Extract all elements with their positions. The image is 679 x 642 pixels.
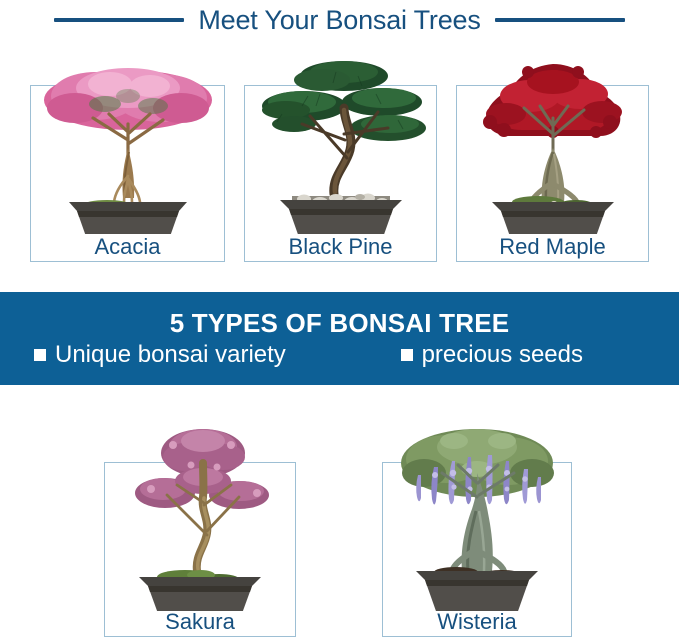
red-maple-bonsai-image [460,56,646,234]
wisteria-bonsai-image [384,417,570,611]
header-rule-right-icon [495,18,625,22]
product-card-label: Black Pine [245,235,436,258]
banner-bullet-item-1: Unique bonsai variety [34,342,286,368]
product-card-acacia[interactable]: Acacia [30,85,225,262]
acacia-bonsai-image [35,56,221,234]
banner-bullet-list: Unique bonsai variety precious seeds [0,342,679,368]
product-card-black-pine[interactable]: Black Pine [244,85,437,262]
banner-bullet-text: Unique bonsai variety [55,342,286,368]
page-header: Meet Your Bonsai Trees [0,0,679,40]
banner-title: 5 TYPES OF BONSAI TREE [170,309,510,338]
product-card-red-maple[interactable]: Red Maple [456,85,649,262]
banner-bullet-item-2: precious seeds [401,342,583,368]
page-title: Meet Your Bonsai Trees [198,7,480,34]
product-card-sakura[interactable]: Sakura [104,462,296,637]
product-card-label: Acacia [31,235,224,258]
promo-banner: 5 TYPES OF BONSAI TREE Unique bonsai var… [0,292,679,385]
product-card-label: Sakura [105,610,295,633]
product-card-label: Red Maple [457,235,648,258]
black-pine-bonsai-image [248,54,434,234]
banner-bullet-text: precious seeds [422,342,583,368]
product-card-label: Wisteria [383,610,571,633]
header-rule-left-icon [54,18,184,22]
square-bullet-icon [401,349,413,361]
sakura-bonsai-image [107,419,293,611]
square-bullet-icon [34,349,46,361]
product-card-wisteria[interactable]: Wisteria [382,462,572,637]
